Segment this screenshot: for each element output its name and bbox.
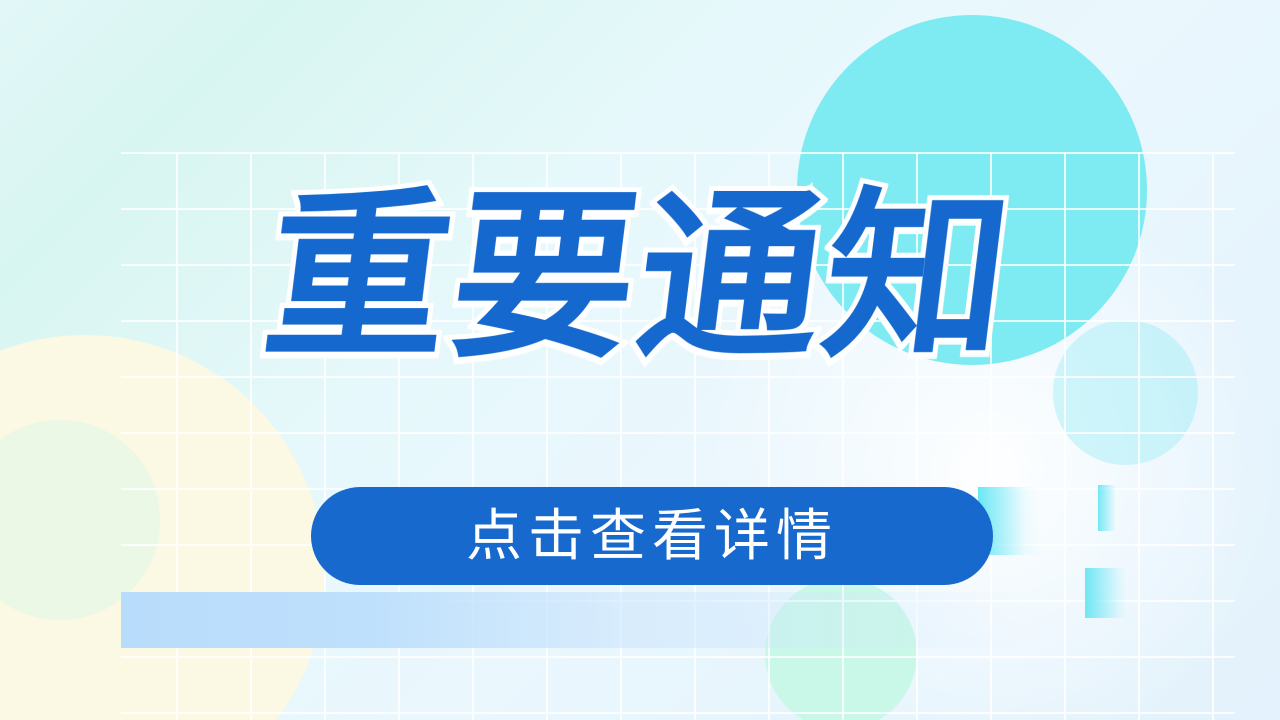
page-title: 重要通知 bbox=[0, 186, 1280, 368]
decor-bar-blue bbox=[121, 592, 1021, 648]
view-details-button[interactable]: 点击查看详情 bbox=[311, 487, 993, 585]
decor-rect-cyan-3 bbox=[1098, 485, 1116, 531]
decor-rect-cyan-2 bbox=[1085, 568, 1127, 618]
notice-banner: 重要通知 点击查看详情 bbox=[0, 0, 1280, 720]
